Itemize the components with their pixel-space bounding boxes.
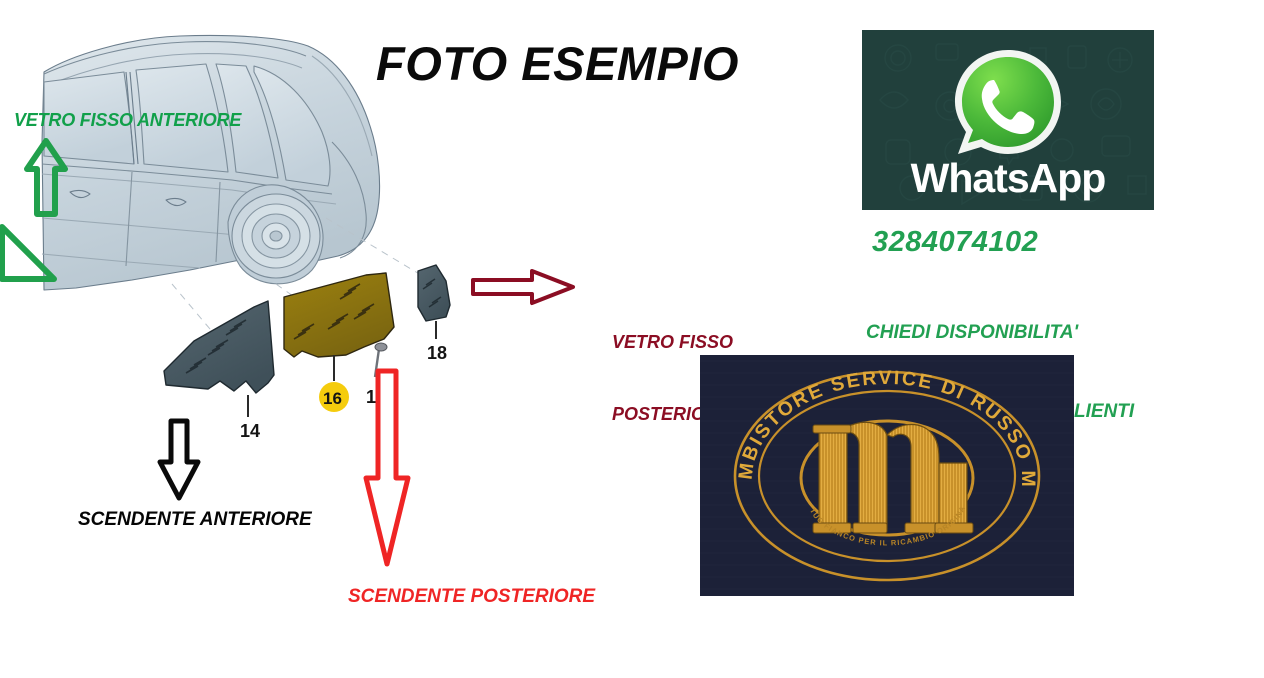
label-scendente-anteriore: SCENDENTE ANTERIORE xyxy=(78,509,312,531)
svg-text:16: 16 xyxy=(323,389,342,408)
diagram-canvas: 14 16 17 xyxy=(0,0,1264,678)
page-title: FOTO ESEMPIO xyxy=(376,36,739,91)
label-vetro-fisso-anteriore: VETRO FISSO ANTERIORE xyxy=(14,110,241,131)
exploded-glass-parts: 14 16 17 xyxy=(150,255,480,445)
svg-text:14: 14 xyxy=(240,421,260,441)
down-arrow-black-icon xyxy=(157,418,201,507)
shop-logo-photo: MRICAMBISTORE SERVICE DI RUSSO MARCO xyxy=(700,355,1074,596)
label-scendente-posteriore: SCENDENTE POSTERIORE xyxy=(348,586,595,608)
whatsapp-note-line1: CHIEDI DISPONIBILITA' xyxy=(866,320,1134,346)
whatsapp-phone-number: 3284074102 xyxy=(872,226,1038,259)
whatsapp-banner: WhatsApp xyxy=(862,30,1154,210)
whatsapp-wordmark: WhatsApp xyxy=(862,155,1154,202)
triangle-green-icon xyxy=(0,222,58,289)
whatsapp-logo-icon xyxy=(948,44,1068,164)
right-arrow-dark-red-icon xyxy=(470,268,576,311)
down-arrow-red-icon xyxy=(362,368,412,573)
label-vetro-fisso-posteriore-line1: VETRO FISSO xyxy=(612,330,733,354)
up-arrow-green-icon xyxy=(24,138,68,223)
svg-text:18: 18 xyxy=(427,343,447,363)
